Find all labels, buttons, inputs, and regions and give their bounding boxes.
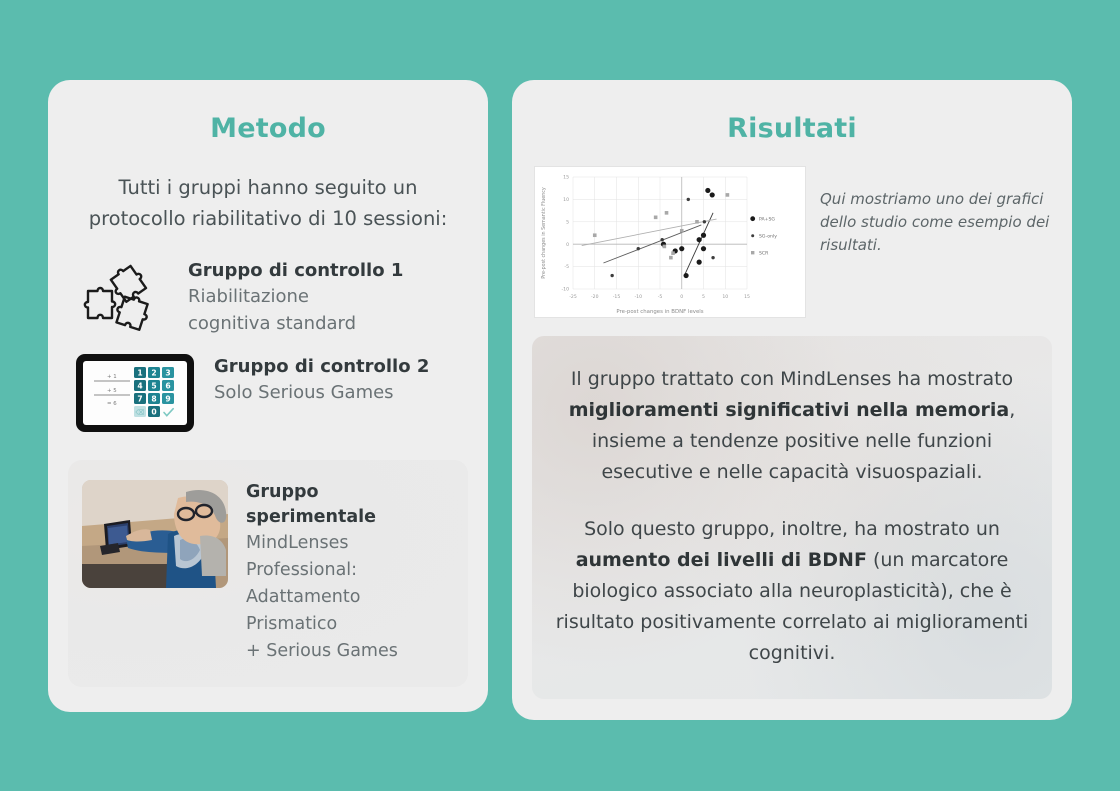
svg-text:SG-only: SG-only	[759, 233, 777, 239]
group-text-control-2: Gruppo di controllo 2 Solo Serious Games	[214, 352, 429, 406]
svg-text:6: 6	[165, 382, 170, 391]
svg-text:-10: -10	[634, 294, 642, 300]
svg-text:-25: -25	[569, 294, 577, 300]
group-row-control-2: + 1 + 5 = 6	[74, 352, 462, 438]
svg-text:SCR: SCR	[759, 250, 769, 256]
metodo-intro-text: Tutti i gruppi hanno seguito un protocol…	[76, 172, 460, 234]
svg-text:8: 8	[151, 395, 156, 404]
svg-text:= 6: = 6	[107, 401, 117, 407]
metodo-card: Metodo Tutti i gruppi hanno seguito un p…	[48, 80, 488, 712]
svg-text:Pre-post changes in Semantic F: Pre-post changes in Semantic Fluency	[541, 187, 547, 279]
svg-text:Pre-post changes in BDNF leve: Pre-post changes in BDNF levels	[616, 309, 703, 315]
svg-text:+ 5: + 5	[107, 388, 117, 394]
svg-text:⌫: ⌫	[135, 408, 144, 416]
chart-caption: Qui mostriamo uno dei grafici dello stud…	[820, 166, 1050, 257]
svg-text:3: 3	[165, 369, 170, 378]
svg-text:PA+SG: PA+SG	[759, 216, 775, 222]
svg-text:10: 10	[722, 294, 728, 300]
result-p1-bold: miglioramenti significativi nella memori…	[569, 399, 1009, 421]
group-desc-line: + Serious Games	[246, 638, 450, 665]
chart-row: -25-20-15-10-5051015-10-5051015Pre-post …	[534, 166, 1050, 318]
experimental-group-box: Gruppo sperimentale MindLenses Professio…	[68, 460, 468, 687]
experimental-group-text: Gruppo sperimentale MindLenses Professio…	[246, 480, 450, 665]
svg-text:-20: -20	[591, 294, 599, 300]
svg-text:0: 0	[680, 294, 683, 300]
svg-text:-15: -15	[613, 294, 621, 300]
svg-text:9: 9	[165, 395, 170, 404]
svg-text:5: 5	[151, 382, 156, 391]
puzzle-pieces-icon	[74, 256, 170, 340]
result-p2-pre: Solo questo gruppo, inoltre, ha mostrato…	[584, 518, 1000, 540]
result-paragraph-2: Solo questo gruppo, inoltre, ha mostrato…	[554, 514, 1030, 669]
group-desc-line: cognitiva standard	[188, 310, 403, 337]
svg-text:7: 7	[137, 395, 142, 404]
group-text-control-1: Gruppo di controllo 1 Riabilitazione cog…	[188, 256, 403, 337]
group-desc-line: Adattamento Prismatico	[246, 584, 450, 638]
svg-text:5: 5	[702, 294, 705, 300]
svg-text:15: 15	[744, 294, 750, 300]
risultati-title: Risultati	[512, 113, 1072, 144]
svg-text:0: 0	[151, 408, 156, 417]
group-name: Gruppo sperimentale	[246, 480, 450, 530]
group-desc-line: Solo Serious Games	[214, 379, 429, 406]
results-text-box: Il gruppo trattato con MindLenses ha mos…	[532, 336, 1052, 699]
svg-text:5: 5	[566, 219, 569, 225]
svg-text:0: 0	[566, 242, 569, 248]
group-row-control-1: Gruppo di controllo 1 Riabilitazione cog…	[74, 256, 462, 340]
slide-root: Metodo Tutti i gruppi hanno seguito un p…	[0, 0, 1120, 791]
group-name: Gruppo di controllo 2	[214, 354, 429, 379]
svg-text:4: 4	[137, 382, 142, 391]
risultati-card: Risultati -25-20-15-10-5051015-10-505101…	[512, 80, 1072, 720]
svg-text:-5: -5	[564, 264, 569, 270]
group-desc-line: Professional:	[246, 557, 450, 584]
tablet-numpad-icon: + 1 + 5 = 6	[74, 352, 196, 438]
svg-text:1: 1	[137, 369, 142, 378]
svg-text:-10: -10	[561, 287, 569, 293]
svg-text:15: 15	[563, 175, 569, 181]
metodo-title: Metodo	[48, 113, 488, 144]
svg-text:2: 2	[151, 369, 156, 378]
result-p1-pre: Il gruppo trattato con MindLenses ha mos…	[571, 368, 1013, 390]
svg-text:-5: -5	[658, 294, 663, 300]
group-desc-line: Riabilitazione	[188, 283, 403, 310]
svg-text:+ 1: + 1	[107, 374, 117, 380]
svg-text:10: 10	[563, 197, 569, 203]
result-paragraph-1: Il gruppo trattato con MindLenses ha mos…	[554, 364, 1030, 488]
bdnf-semantic-fluency-scatter-chart: -25-20-15-10-5051015-10-5051015Pre-post …	[534, 166, 806, 318]
result-p2-bold: aumento dei livelli di BDNF	[576, 549, 867, 571]
group-name: Gruppo di controllo 1	[188, 258, 403, 283]
elderly-person-using-tablet-photo	[82, 480, 228, 588]
group-desc-line: MindLenses	[246, 530, 450, 557]
